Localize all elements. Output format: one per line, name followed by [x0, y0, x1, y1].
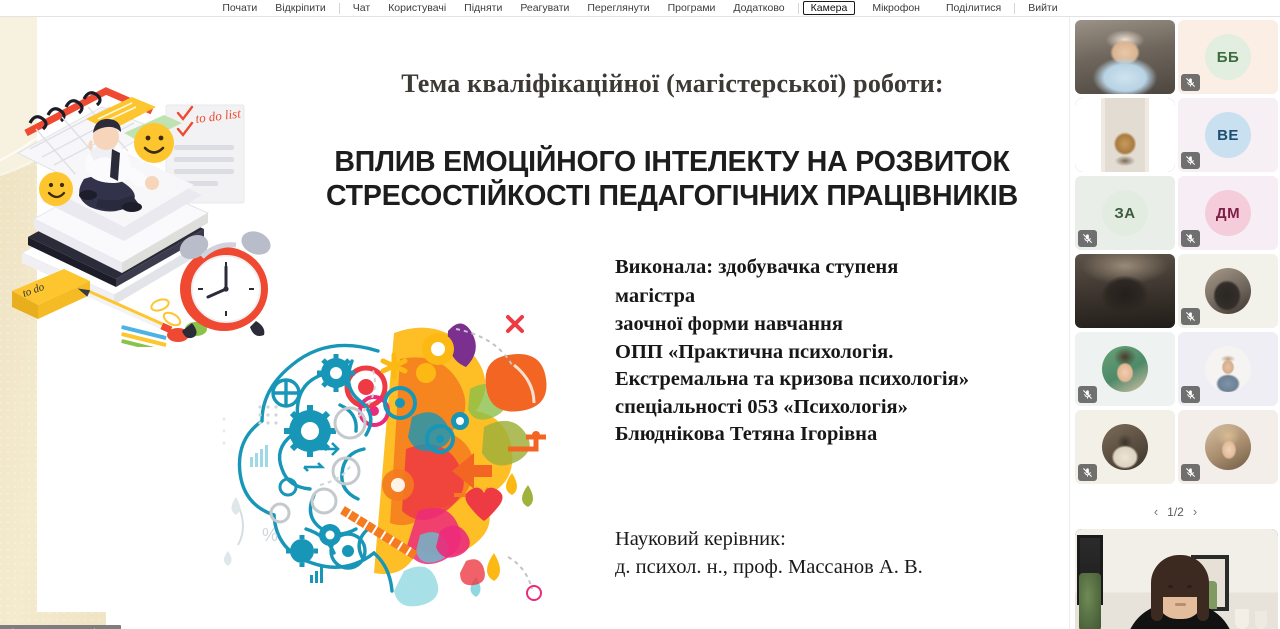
toolbar-microphone-button[interactable]: Мікрофон	[863, 2, 929, 15]
author-line-5: Екстремальна та кризова психологія»	[615, 366, 1065, 394]
slide-author-block: Виконала: здобувачка ступеня магістра за…	[615, 254, 1065, 449]
supervisor-value: д. психол. н., проф. Массанов А. В.	[615, 553, 1065, 581]
author-line-7: Блюднікова Тетяна Ігорівна	[615, 421, 1065, 449]
mic-off-icon	[1181, 74, 1200, 91]
pager-prev-button[interactable]: ‹	[1154, 504, 1158, 519]
toolbar-leave-button[interactable]: Вийти	[1019, 2, 1066, 15]
avatar: ДМ	[1205, 190, 1251, 236]
mic-off-icon	[1181, 308, 1200, 325]
toolbar-start-button[interactable]: Почати	[213, 2, 266, 15]
slide-title-prefix: Тема кваліфікаційної (магістерської) роб…	[300, 69, 1045, 99]
avatar-photo	[1102, 346, 1148, 392]
author-line-1: Виконала: здобувачка ступеня	[615, 254, 1065, 282]
participants-rail: ББ ВЕ	[1069, 17, 1280, 629]
author-line-4: ОПП «Практична психологія.	[615, 339, 1065, 367]
meeting-window: Почати Відкріпити Чат Користувачі Піднят…	[0, 0, 1280, 629]
video-feed	[1075, 254, 1175, 328]
slide-title-main: ВПЛИВ ЕМОЦІЙНОГО ІНТЕЛЕКТУ НА РОЗВИТОК С…	[296, 145, 1048, 213]
toolbar-unpin-button[interactable]: Відкріпити	[266, 2, 334, 15]
participant-dm[interactable]: ДМ	[1178, 176, 1278, 250]
toolbar-share-button[interactable]: Поділитися	[937, 2, 1010, 15]
toolbar-camera-button[interactable]: Камера	[803, 1, 856, 16]
svg-text:%: %	[262, 525, 278, 545]
mic-off-icon	[1181, 152, 1200, 169]
participant-video-3[interactable]	[1075, 254, 1175, 328]
pager-next-button[interactable]: ›	[1193, 504, 1197, 519]
avatar: ВЕ	[1205, 112, 1251, 158]
presenter-name-chip: люднікова Тетяна Ігорівна	[0, 625, 121, 629]
brain-creativity-illustration: %	[208, 299, 580, 629]
toolbar-chat-button[interactable]: Чат	[344, 2, 379, 15]
participant-ve[interactable]: ВЕ	[1178, 98, 1278, 172]
mic-off-icon	[1078, 464, 1097, 481]
avatar-initials: ДМ	[1216, 205, 1240, 222]
mic-off-icon	[1181, 230, 1200, 247]
avatar-initials: ВЕ	[1217, 127, 1239, 144]
video-feed	[1075, 20, 1175, 94]
supervisor-label: Науковий керівник:	[615, 525, 1065, 553]
toolbar-divider-1	[339, 3, 340, 14]
slide-title-main-line2: СТРЕСОСТІЙКОСТІ ПЕДАГОГІЧНИХ ПРАЦІВНИКІВ	[296, 179, 1048, 213]
participant-photo-1[interactable]	[1178, 254, 1278, 328]
toolbar-react-button[interactable]: Реагувати	[511, 2, 578, 15]
avatar-initials: ББ	[1217, 49, 1240, 66]
toolbar-divider-2	[798, 3, 799, 14]
slide-supervisor-block: Науковий керівник: д. психол. н., проф. …	[615, 525, 1065, 581]
avatar: ББ	[1205, 34, 1251, 80]
pager-label: 1/2	[1167, 505, 1184, 519]
mic-off-icon	[1078, 386, 1097, 403]
participant-photo-2[interactable]	[1075, 332, 1175, 406]
slide-title-main-line1: ВПЛИВ ЕМОЦІЙНОГО ІНТЕЛЕКТУ НА РОЗВИТОК	[296, 145, 1048, 179]
participant-bb[interactable]: ББ	[1178, 20, 1278, 94]
toolbar-divider-3	[1014, 3, 1015, 14]
mic-off-icon	[1078, 230, 1097, 247]
participant-za[interactable]: ЗА	[1075, 176, 1175, 250]
participant-photo-5[interactable]	[1178, 410, 1278, 484]
participants-pager: ‹ 1/2 ›	[1070, 504, 1280, 519]
author-line-6: спеціальності 053 «Психологія»	[615, 394, 1065, 422]
shared-slide-stage[interactable]: to do list	[0, 17, 1069, 629]
avatar-photo	[1205, 424, 1251, 470]
participant-photo-3[interactable]	[1178, 332, 1278, 406]
mic-off-icon	[1181, 386, 1200, 403]
avatar-photo	[1205, 268, 1251, 314]
author-line-3: заочної форми навчання	[615, 311, 1065, 339]
mic-off-icon	[1181, 464, 1200, 481]
author-line-2: магістра	[615, 283, 1065, 311]
meeting-toolbar: Почати Відкріпити Чат Користувачі Піднят…	[0, 0, 1280, 17]
video-subject	[1075, 98, 1175, 172]
avatar-initials: ЗА	[1114, 205, 1135, 222]
toolbar-more-button[interactable]: Додатково	[724, 2, 793, 15]
avatar-photo	[1205, 346, 1251, 392]
avatar-photo	[1102, 424, 1148, 470]
participant-video-2[interactable]	[1075, 98, 1175, 172]
participant-video-1[interactable]	[1075, 20, 1175, 94]
toolbar-view-button[interactable]: Переглянути	[578, 2, 658, 15]
participants-grid: ББ ВЕ	[1075, 20, 1278, 484]
toolbar-raise-hand-button[interactable]: Підняти	[455, 2, 511, 15]
participant-photo-4[interactable]	[1075, 410, 1175, 484]
toolbar-apps-button[interactable]: Програми	[659, 2, 725, 15]
toolbar-participants-button[interactable]: Користувачі	[379, 2, 455, 15]
self-view-video[interactable]	[1075, 529, 1278, 629]
avatar: ЗА	[1102, 190, 1148, 236]
